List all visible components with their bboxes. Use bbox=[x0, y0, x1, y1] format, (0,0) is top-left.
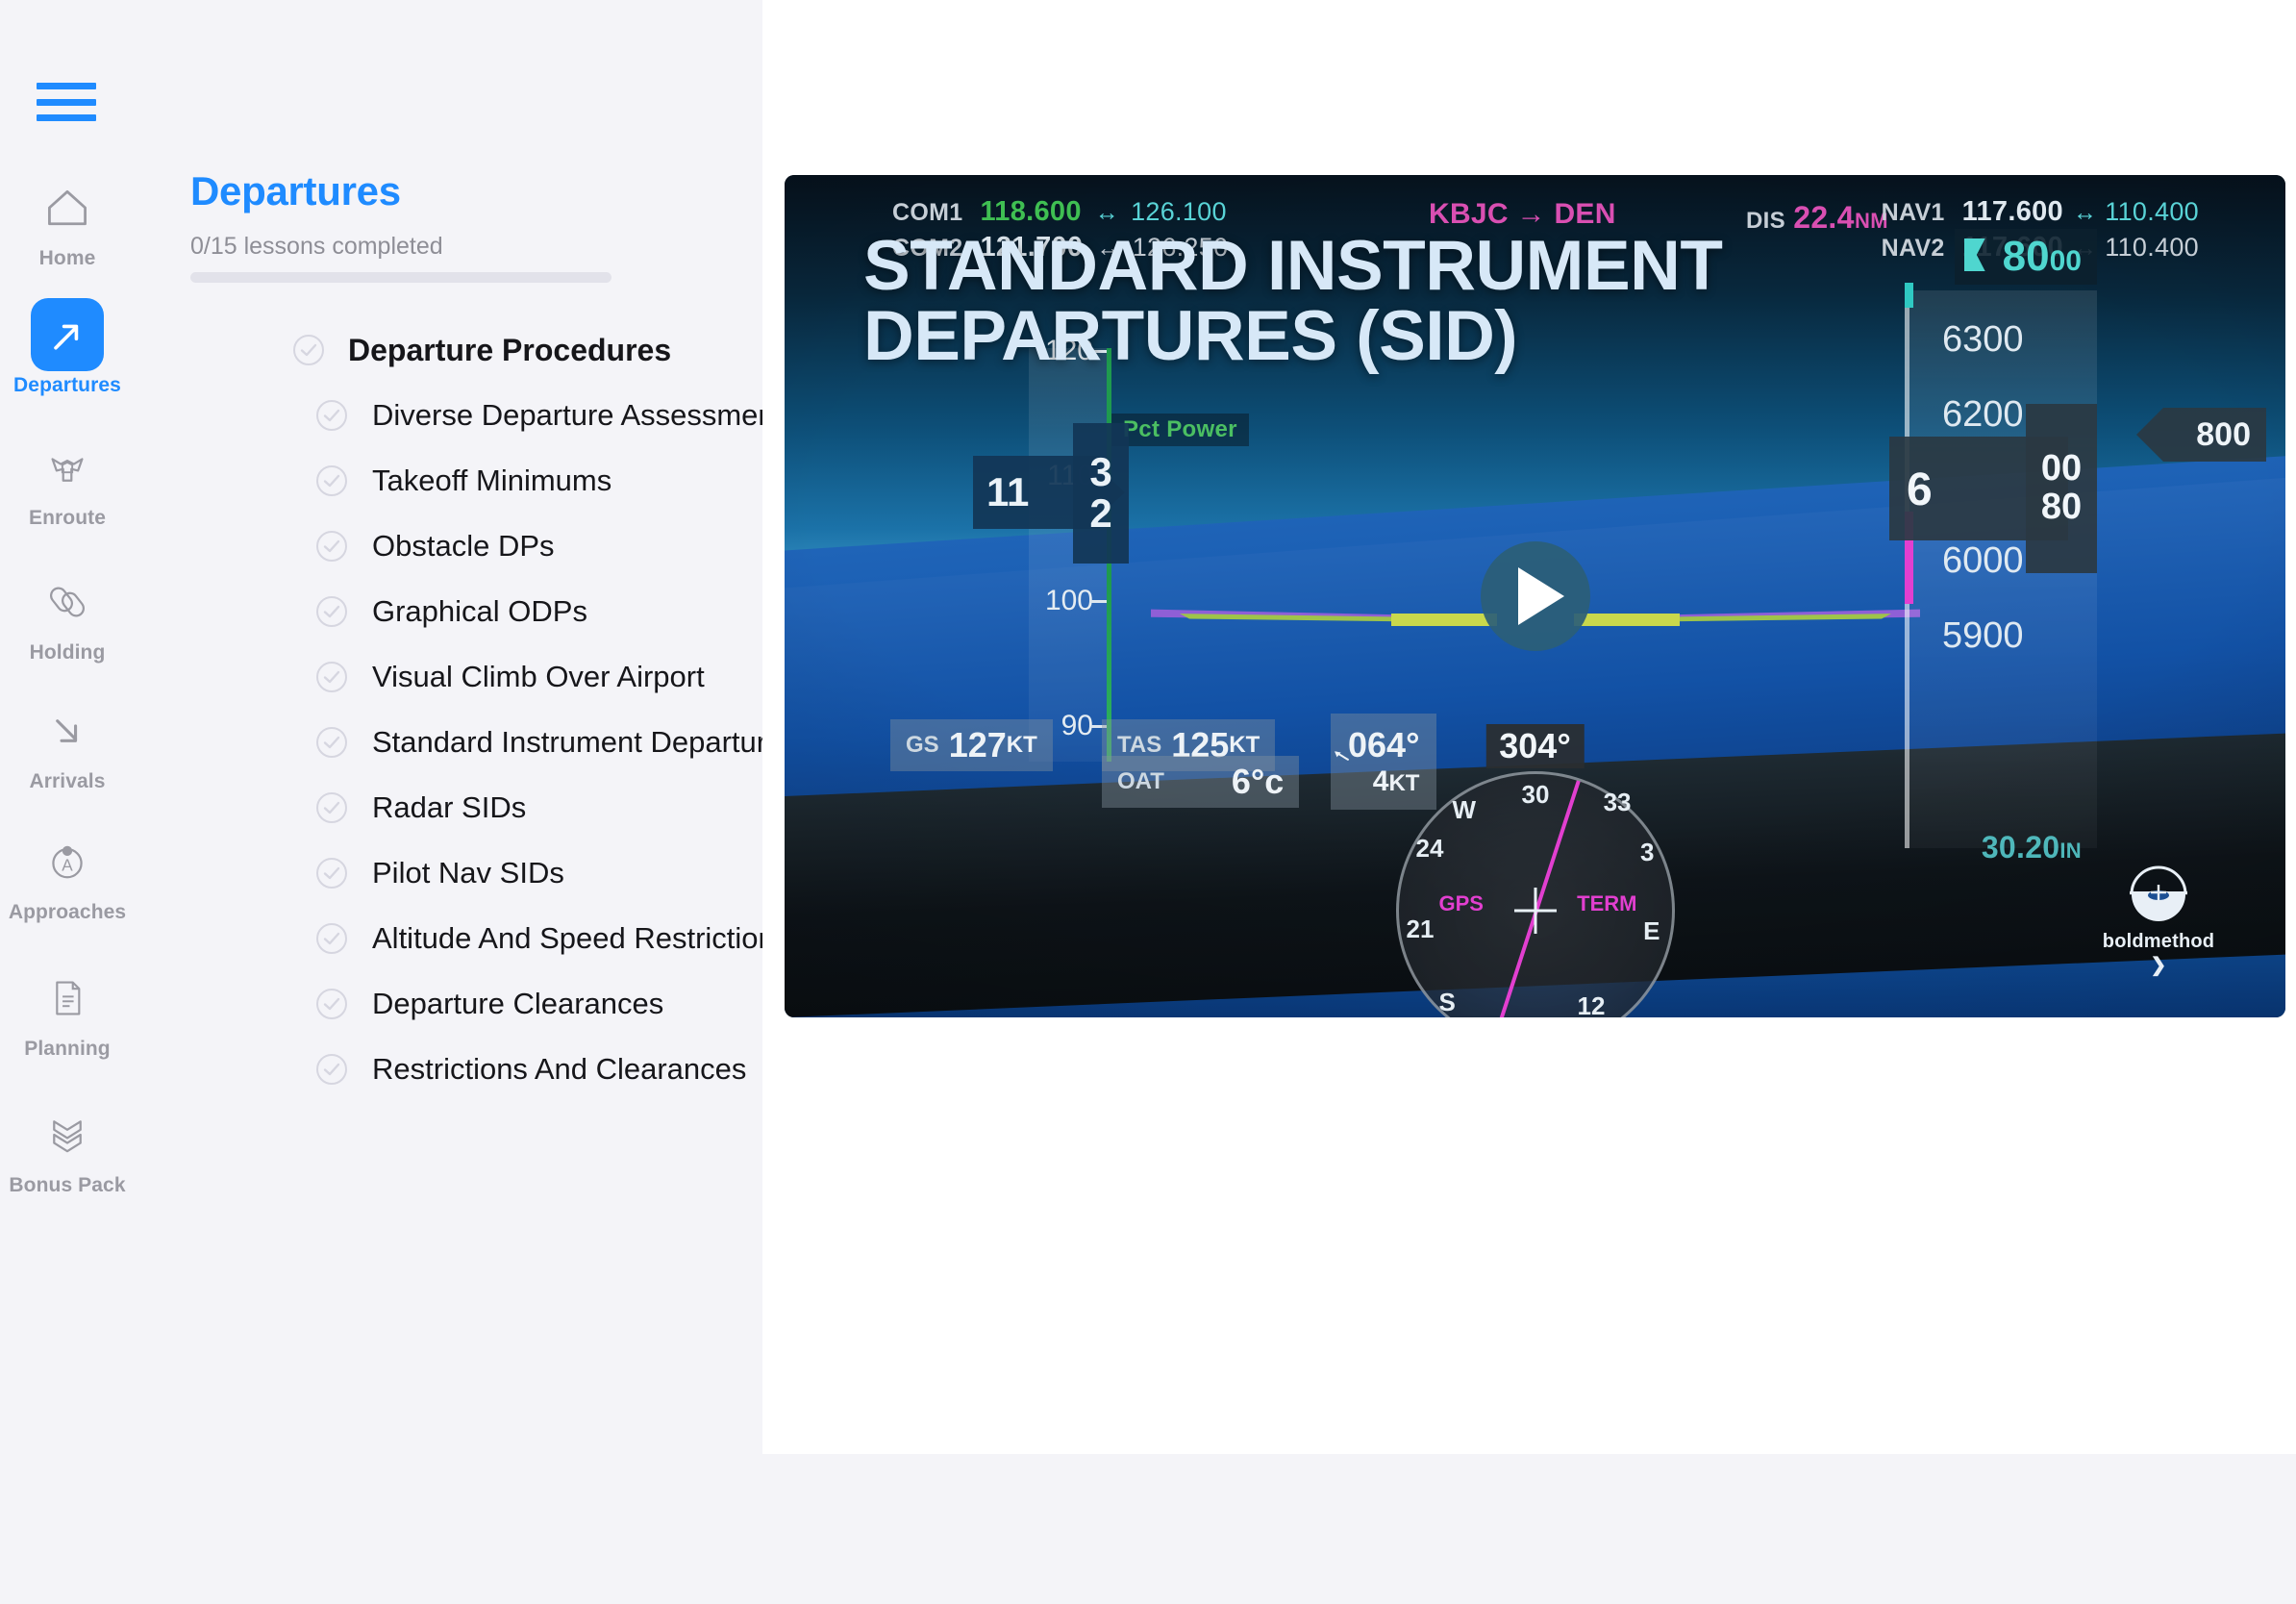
lesson-row[interactable]: Altitude And Speed Restrictions bbox=[135, 906, 762, 971]
lesson-title: Radar SIDs bbox=[372, 790, 526, 825]
com1-standby-frequency: 126.100 bbox=[1131, 197, 1227, 226]
sidebar-item-arrivals[interactable]: Arrivals bbox=[0, 694, 135, 792]
lesson-check-icon bbox=[315, 595, 348, 628]
video-title: STANDARD INSTRUMENT DEPARTURES (SID) bbox=[863, 231, 1921, 371]
lesson-check-icon bbox=[292, 334, 325, 366]
progress-bar bbox=[190, 272, 611, 283]
sidebar-item-approaches[interactable]: A Approaches bbox=[0, 825, 135, 923]
lesson-check-icon bbox=[315, 857, 348, 890]
sidebar-item-label: Home bbox=[39, 248, 96, 269]
lesson-title: Pilot Nav SIDs bbox=[372, 856, 564, 890]
groundspeed-strip: GS 127KT bbox=[890, 719, 1053, 771]
lesson-title: Restrictions And Clearances bbox=[372, 1052, 746, 1087]
lesson-check-icon bbox=[315, 726, 348, 759]
nav1-standby-frequency: 110.400 bbox=[2105, 197, 2199, 226]
lesson-title: Takeoff Minimums bbox=[372, 464, 611, 498]
boldmethod-wordmark: boldmethod ❯ bbox=[2095, 931, 2222, 977]
lesson-row[interactable]: Diverse Departure Assessment bbox=[135, 383, 762, 448]
compass-label: 30 bbox=[1522, 780, 1550, 810]
lesson-row[interactable]: Departure Clearances bbox=[135, 971, 762, 1037]
lesson-check-icon bbox=[315, 1053, 348, 1086]
lesson-row[interactable]: Restrictions And Clearances bbox=[135, 1037, 762, 1102]
lesson-row[interactable]: Visual Climb Over Airport bbox=[135, 644, 762, 710]
lesson-list-panel: Departures 0/15 lessons completed Depart… bbox=[135, 0, 762, 1454]
nav1-swap-icon: ↔ bbox=[2073, 199, 2097, 226]
play-triangle bbox=[1518, 567, 1564, 625]
compass-label: 15 bbox=[1507, 1016, 1535, 1017]
lesson-check-icon bbox=[315, 661, 348, 693]
wind-arrow-icon bbox=[1315, 731, 1367, 783]
boldmethod-logo-icon: boldmethod ❯ bbox=[2095, 858, 2222, 977]
compass-label: 24 bbox=[1416, 834, 1444, 864]
route-display: KBJC → DEN bbox=[1429, 198, 1616, 231]
lesson-check-icon bbox=[315, 791, 348, 824]
airspeed-drum-digit: 3 bbox=[1089, 452, 1111, 493]
sidebar-item-label: Enroute bbox=[29, 508, 106, 529]
compass-label: E bbox=[1643, 916, 1660, 946]
lesson-list: Departure ProceduresDiverse Departure As… bbox=[135, 317, 762, 1102]
altitude-tick-label: 6300 bbox=[1942, 319, 2024, 361]
altitude-value: 6 bbox=[1907, 464, 1933, 516]
compass-label: 21 bbox=[1407, 915, 1435, 944]
lesson-row[interactable]: Obstacle DPs bbox=[135, 514, 762, 579]
video-thumbnail[interactable]: COM1 118.600 ↔ 126.100 COM2 121.700 ↔ 12… bbox=[785, 175, 2285, 1017]
sidebar-item-bonus-pack[interactable]: Bonus Pack bbox=[0, 1098, 135, 1196]
altitude-preselect-hundreds: 00 bbox=[2050, 245, 2082, 277]
lesson-row[interactable]: Standard Instrument Departures bbox=[135, 710, 762, 775]
nav1-active-frequency: 117.600 bbox=[1962, 196, 2063, 227]
oat-value: 6°c bbox=[1232, 762, 1284, 802]
hamburger-bar bbox=[37, 114, 96, 121]
sidebar-item-enroute[interactable]: Enroute bbox=[0, 431, 135, 529]
oat-label: OAT bbox=[1117, 768, 1164, 795]
distance-value: 22.4 bbox=[1793, 200, 1854, 235]
compass-label: S bbox=[1439, 988, 1456, 1017]
lesson-row[interactable]: Radar SIDs bbox=[135, 775, 762, 840]
pct-power-label: Pct Power bbox=[1111, 414, 1249, 446]
sidebar-item-label: Approaches bbox=[9, 902, 126, 923]
altitude-preselect: 8000 bbox=[1955, 229, 2097, 285]
lesson-title: Diverse Departure Assessment bbox=[372, 398, 762, 433]
chevrons-icon bbox=[31, 1098, 104, 1171]
compass-label: 12 bbox=[1578, 991, 1606, 1017]
content-panel: COM1 118.600 ↔ 126.100 COM2 121.700 ↔ 12… bbox=[762, 0, 2296, 1454]
sidebar-rail: Home Departures Enroute bbox=[0, 0, 135, 1604]
lesson-check-icon bbox=[315, 922, 348, 955]
lesson-row[interactable]: Pilot Nav SIDs bbox=[135, 840, 762, 906]
lesson-check-icon bbox=[315, 530, 348, 563]
arrival-arrow-icon bbox=[31, 694, 104, 767]
com1-swap-icon: ↔ bbox=[1095, 199, 1119, 226]
sidebar-item-home[interactable]: Home bbox=[0, 171, 135, 269]
app-root: Home Departures Enroute bbox=[0, 0, 2296, 1604]
groundspeed-label: GS bbox=[906, 732, 939, 759]
holding-icon bbox=[31, 565, 104, 639]
attitude-bar-right bbox=[1574, 614, 1680, 626]
lesson-title: Departure Clearances bbox=[372, 987, 663, 1021]
home-icon bbox=[31, 171, 104, 244]
sidebar-item-label: Holding bbox=[30, 642, 106, 664]
compass-label: W bbox=[1453, 795, 1477, 825]
gps-mode-label: GPS bbox=[1439, 891, 1484, 916]
groundspeed-unit: KT bbox=[1007, 732, 1037, 759]
sidebar-item-label: Arrivals bbox=[29, 771, 105, 792]
play-icon[interactable] bbox=[1481, 541, 1590, 651]
heading-readout: 304° bbox=[1485, 724, 1584, 768]
sidebar-item-departures[interactable]: Departures bbox=[0, 298, 135, 396]
lesson-section-row[interactable]: Departure Procedures bbox=[135, 317, 762, 383]
airspeed-value: 11 bbox=[986, 469, 1029, 515]
altitude-drum-digit: 80 bbox=[2041, 489, 2082, 527]
vertical-speed-value: 800 bbox=[2196, 416, 2251, 454]
lesson-title: Altitude And Speed Restrictions bbox=[372, 921, 762, 956]
sidebar-item-label: Bonus Pack bbox=[9, 1175, 125, 1196]
attitude-bar-left bbox=[1391, 614, 1497, 626]
compass-label: 33 bbox=[1604, 788, 1632, 817]
altitude-drum: 00 80 bbox=[2026, 404, 2097, 573]
lesson-row[interactable]: Graphical ODPs bbox=[135, 579, 762, 644]
sidebar-item-holding[interactable]: Holding bbox=[0, 565, 135, 664]
altitude-preselect-value: 80 bbox=[2003, 233, 2050, 280]
wind-speed: 4KT bbox=[1373, 765, 1420, 798]
compass-label: 3 bbox=[1640, 838, 1654, 867]
departure-arrow-icon bbox=[31, 298, 104, 371]
aircraft-symbol-icon bbox=[1503, 878, 1568, 943]
altitude-drum-digit: 00 bbox=[2041, 450, 2082, 489]
barometric-setting: 30.20IN bbox=[1982, 830, 2082, 865]
outside-air-temp-strip: OAT 6°c bbox=[1102, 756, 1299, 808]
lesson-title: Graphical ODPs bbox=[372, 594, 587, 629]
airspeed-drum: 3 2 bbox=[1073, 423, 1129, 564]
lesson-row[interactable]: Takeoff Minimums bbox=[135, 448, 762, 514]
approach-icon: A bbox=[31, 825, 104, 898]
true-airspeed-unit: KT bbox=[1229, 732, 1260, 759]
hamburger-menu-icon[interactable] bbox=[37, 83, 96, 121]
lesson-title: Obstacle DPs bbox=[372, 529, 555, 564]
com1-active-frequency: 118.600 bbox=[980, 196, 1081, 227]
groundspeed-value: 127 bbox=[949, 725, 1007, 765]
progress-text: 0/15 lessons completed bbox=[190, 233, 443, 261]
vertical-speed-bug: 800 bbox=[2163, 408, 2266, 462]
nav1-label: NAV1 bbox=[1882, 199, 1945, 226]
airspeed-drum-digit: 2 bbox=[1089, 493, 1111, 535]
sidebar-item-planning[interactable]: Planning bbox=[0, 962, 135, 1060]
sidebar-item-label: Planning bbox=[24, 1039, 110, 1060]
airspeed-tick-label: 100 bbox=[1045, 585, 1093, 617]
lesson-title: Departure Procedures bbox=[348, 333, 671, 368]
enroute-icon bbox=[31, 431, 104, 504]
page-title: Departures bbox=[190, 168, 401, 214]
lesson-title: Standard Instrument Departures bbox=[372, 725, 762, 760]
nav2-standby-frequency: 110.400 bbox=[2105, 233, 2199, 262]
hamburger-bar bbox=[37, 83, 96, 89]
airspeed-tick-label: 90 bbox=[1061, 710, 1093, 742]
svg-text:A: A bbox=[62, 855, 73, 874]
altitude-bug-icon bbox=[1964, 238, 1985, 271]
terminal-mode-label: TERM bbox=[1577, 891, 1636, 916]
altitude-tick-label: 5900 bbox=[1942, 615, 2024, 657]
lesson-check-icon bbox=[315, 399, 348, 432]
distance-label: DIS bbox=[1746, 208, 1785, 234]
lesson-check-icon bbox=[315, 988, 348, 1020]
altitude-tick-label: 6000 bbox=[1942, 540, 2024, 582]
lesson-title: Visual Climb Over Airport bbox=[372, 660, 705, 694]
boldmethod-mark bbox=[2124, 858, 2193, 927]
sidebar-item-label: Departures bbox=[13, 375, 121, 396]
hamburger-bar bbox=[37, 99, 96, 106]
document-icon bbox=[31, 962, 104, 1035]
lesson-check-icon bbox=[315, 464, 348, 497]
true-airspeed-label: TAS bbox=[1117, 732, 1161, 759]
com1-label: COM1 bbox=[892, 199, 962, 226]
altitude-tick-label: 6200 bbox=[1942, 394, 2024, 436]
